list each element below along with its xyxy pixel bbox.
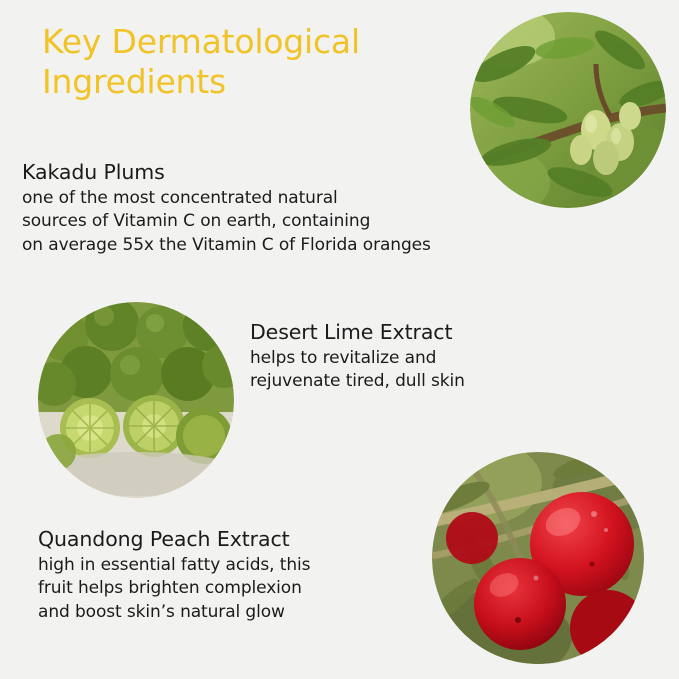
quandong-heading: Quandong Peach Extract — [38, 527, 413, 551]
section-desert-lime: Desert Lime Extract helps to revitalize … — [250, 320, 550, 394]
kakadu-heading: Kakadu Plums — [22, 160, 472, 184]
quandong-peach-photo — [432, 452, 644, 664]
section-quandong: Quandong Peach Extract high in essential… — [38, 527, 413, 624]
desert-lime-body: helps to revitalize and rejuvenate tired… — [250, 347, 550, 394]
desert-lime-photo — [38, 302, 234, 498]
ingredients-infographic: Key Dermatological Ingredients — [0, 0, 679, 679]
page-title: Key Dermatological Ingredients — [42, 22, 472, 103]
desert-lime-heading: Desert Lime Extract — [250, 320, 550, 344]
section-kakadu: Kakadu Plums one of the most concentrate… — [22, 160, 472, 257]
kakadu-body: one of the most concentrated natural sou… — [22, 187, 472, 257]
quandong-body: high in essential fatty acids, this frui… — [38, 554, 413, 624]
kakadu-plum-photo — [470, 12, 666, 208]
